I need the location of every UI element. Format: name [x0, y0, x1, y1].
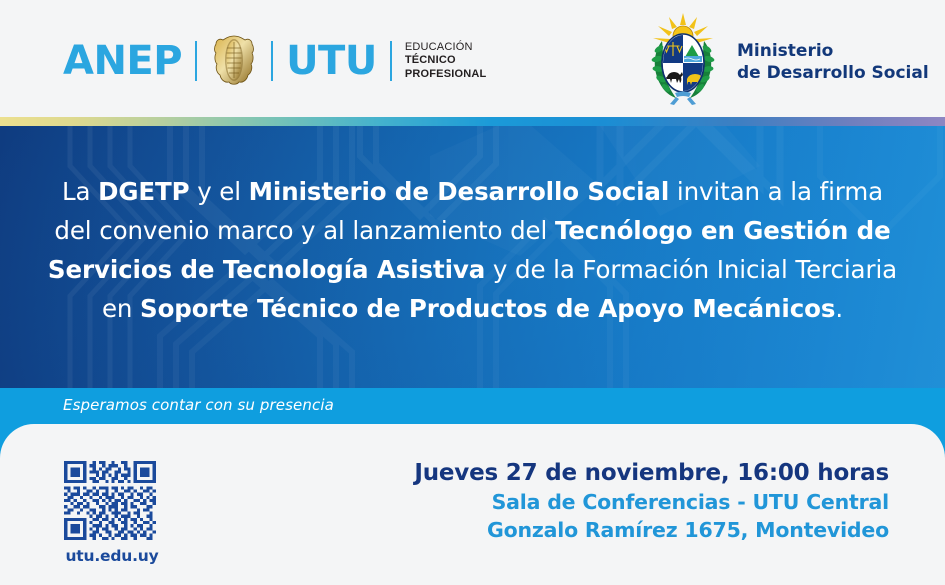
invitation-run-3-1: Servicios de Tecnología Asistiva [48, 255, 485, 284]
invitation-line-2: del convenio marco y al lanzamiento del … [0, 211, 945, 250]
qr-block[interactable]: utu.edu.uy [64, 461, 160, 565]
invitation-run-4-1: en [102, 294, 140, 323]
presence-message: Esperamos contar con su presencia [63, 396, 334, 414]
mides-line1: Ministerio [737, 41, 833, 61]
gradient-divider [0, 117, 945, 126]
invitation-run-4-2: Soporte Técnico de Productos de Apoyo Me… [140, 294, 835, 323]
uruguay-coat-of-arms-icon [645, 11, 721, 112]
mides-wordmark: Ministerio de Desarrollo Social [737, 40, 929, 84]
mides-logo-group: Ministerio de Desarrollo Social [645, 14, 929, 109]
invitation-line-4: en Soporte Técnico de Productos de Apoyo… [0, 289, 945, 328]
utu-wordmark: UTU [286, 41, 377, 81]
invitation-run-3-2: y de la Formación Inicial Terciaria [485, 255, 897, 284]
event-address: Gonzalo Ramírez 1675, Montevideo [414, 516, 889, 544]
invitation-run-1-3: y el [190, 177, 249, 206]
anep-wordmark: ANEP [63, 41, 182, 81]
mides-line2: de Desarrollo Social [737, 63, 929, 83]
invitation-line-3: Servicios de Tecnología Asistiva y de la… [0, 250, 945, 289]
invitation-run-2-1: del convenio marco y al lanzamiento del [54, 216, 555, 245]
event-details: Jueves 27 de noviembre, 16:00 horas Sala… [414, 458, 889, 544]
invitation-line-1: La DGETP y el Ministerio de Desarrollo S… [0, 172, 945, 211]
utu-tagline: EDUCACIÓN TÉCNICO PROFESIONAL [405, 41, 487, 82]
logo-divider-1 [195, 41, 197, 81]
logo-divider-3 [390, 41, 392, 81]
utu-tagline-line1: EDUCACIÓN [405, 41, 473, 53]
invitation-text: La DGETP y el Ministerio de Desarrollo S… [0, 172, 945, 328]
anep-shield-icon [212, 35, 256, 87]
event-venue: Sala de Conferencias - UTU Central [414, 488, 889, 516]
invitation-run-1-5: invitan a la firma [669, 177, 883, 206]
utu-tagline-line3: PROFESIONAL [405, 68, 487, 80]
invitation-run-2-2: Tecnólogo en Gestión de [555, 216, 891, 245]
qr-code-icon[interactable] [64, 461, 156, 540]
invitation-run-1-1: La [62, 177, 98, 206]
qr-url-label: utu.edu.uy [64, 547, 160, 565]
header-bar: ANEP [0, 0, 945, 117]
invitation-poster: ANEP [0, 0, 945, 585]
event-date: Jueves 27 de noviembre, 16:00 horas [414, 458, 889, 488]
invitation-run-4-3: . [835, 294, 843, 323]
invitation-run-1-2: DGETP [98, 177, 189, 206]
invitation-run-1-4: Ministerio de Desarrollo Social [249, 177, 670, 206]
anep-utu-logo-group: ANEP [63, 38, 486, 84]
utu-tagline-line2: TÉCNICO [405, 54, 456, 66]
logo-divider-2 [271, 41, 273, 81]
